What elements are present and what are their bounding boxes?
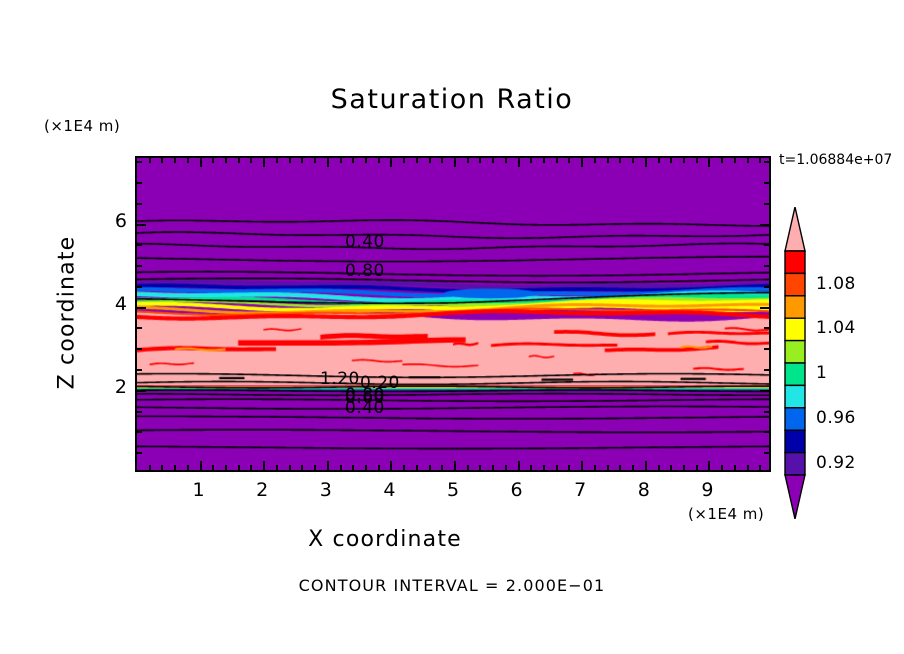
x-tick-minor: [696, 465, 698, 470]
colorbar-band: [785, 408, 805, 430]
x-axis-tick-label: 1: [179, 479, 219, 501]
y-axis-title: Z coordinate: [55, 213, 80, 413]
z-axis-tick-label: 4: [87, 293, 127, 315]
z-tick-minor: [137, 431, 142, 433]
x-axis-tick-label: 6: [497, 479, 537, 501]
z-tick-minor-right: [764, 348, 769, 350]
x-tick-minor-top: [670, 158, 672, 163]
colorbar-tick-label: 1.08: [816, 274, 856, 294]
z-tick-minor-right: [764, 286, 769, 288]
x-tick-minor: [607, 465, 609, 470]
colorbar-band: [785, 318, 805, 340]
colorbar-band: [785, 341, 805, 363]
contour-value-label: 0.80: [345, 261, 385, 281]
x-tick-minor: [403, 465, 405, 470]
x-tick-minor-top: [352, 158, 354, 163]
x-tick-minor-top: [594, 158, 596, 163]
x-tick-minor: [161, 465, 163, 470]
z-tick-minor-right: [764, 182, 769, 184]
colorbar-band: [785, 363, 805, 385]
colorbar-swatches: [782, 207, 808, 519]
x-tick-minor-top: [759, 158, 761, 163]
x-tick-minor: [276, 465, 278, 470]
contour-plot-area: [135, 156, 771, 472]
contour-field-canvas: [137, 158, 769, 470]
x-tick-major-top: [708, 158, 710, 167]
z-tick-major: [137, 390, 146, 392]
time-stamp-label: t=1.06884e+07: [779, 152, 892, 168]
x-tick-minor: [479, 465, 481, 470]
colorbar-tick-label: 0.92: [816, 453, 856, 473]
x-tick-minor-top: [747, 158, 749, 163]
x-tick-minor: [378, 465, 380, 470]
z-tick-minor-right: [764, 161, 769, 163]
z-tick-minor: [137, 369, 142, 371]
x-tick-minor-top: [340, 158, 342, 163]
x-tick-minor: [619, 465, 621, 470]
x-tick-major: [708, 461, 710, 470]
x-tick-minor: [759, 465, 761, 470]
x-tick-major-top: [390, 158, 392, 167]
x-tick-minor-top: [543, 158, 545, 163]
x-axis-tick-label: 9: [687, 479, 727, 501]
x-tick-minor-top: [429, 158, 431, 163]
x-tick-minor: [238, 465, 240, 470]
x-tick-minor: [289, 465, 291, 470]
z-tick-minor: [137, 182, 142, 184]
x-tick-major-top: [200, 158, 202, 167]
x-tick-minor: [352, 465, 354, 470]
x-tick-minor-top: [683, 158, 685, 163]
x-tick-minor: [314, 465, 316, 470]
z-tick-major-right: [760, 224, 769, 226]
x-tick-minor: [365, 465, 367, 470]
z-tick-major-right: [760, 307, 769, 309]
x-tick-minor: [416, 465, 418, 470]
contour-interval-note: CONTOUR INTERVAL = 2.000E−01: [0, 576, 904, 595]
x-tick-minor: [530, 465, 532, 470]
z-tick-minor: [137, 244, 142, 246]
x-tick-major-top: [454, 158, 456, 167]
colorbar-bottom-cap: [785, 475, 805, 519]
x-axis-tick-label: 2: [242, 479, 282, 501]
x-tick-major-top: [263, 158, 265, 167]
page-title: Saturation Ratio: [0, 84, 904, 115]
x-tick-minor-top: [238, 158, 240, 163]
z-axis-tick-label: 6: [87, 210, 127, 232]
colorbar-band: [785, 296, 805, 318]
x-tick-minor: [187, 465, 189, 470]
x-tick-minor: [212, 465, 214, 470]
x-tick-major: [390, 461, 392, 470]
x-tick-major-top: [581, 158, 583, 167]
x-axis-title: X coordinate: [0, 527, 770, 552]
x-tick-minor-top: [276, 158, 278, 163]
z-tick-minor: [137, 286, 142, 288]
x-tick-minor: [505, 465, 507, 470]
x-tick-minor: [568, 465, 570, 470]
z-tick-minor: [137, 265, 142, 267]
x-tick-major: [200, 461, 202, 470]
colorbar-band: [785, 385, 805, 407]
x-tick-major-top: [518, 158, 520, 167]
x-tick-minor-top: [734, 158, 736, 163]
x-tick-minor: [632, 465, 634, 470]
x-tick-major-top: [327, 158, 329, 167]
x-tick-minor-top: [149, 158, 151, 163]
x-tick-minor-top: [174, 158, 176, 163]
x-tick-minor: [467, 465, 469, 470]
x-tick-minor: [149, 465, 151, 470]
z-tick-major-right: [760, 390, 769, 392]
z-tick-minor-right: [764, 431, 769, 433]
x-axis-tick-label: 8: [624, 479, 664, 501]
x-tick-minor-top: [161, 158, 163, 163]
colorbar-band: [785, 251, 805, 273]
x-tick-minor: [594, 465, 596, 470]
x-tick-minor: [301, 465, 303, 470]
x-tick-minor-top: [301, 158, 303, 163]
z-tick-minor-right: [764, 265, 769, 267]
x-tick-major: [518, 461, 520, 470]
contour-value-label: 0.40: [345, 232, 385, 252]
x-tick-minor-top: [721, 158, 723, 163]
x-tick-major: [581, 461, 583, 470]
x-tick-minor-top: [225, 158, 227, 163]
x-tick-minor: [225, 465, 227, 470]
x-tick-minor-top: [416, 158, 418, 163]
z-tick-minor-right: [764, 369, 769, 371]
z-tick-minor-right: [764, 244, 769, 246]
x-tick-minor: [543, 465, 545, 470]
colorbar-band: [785, 453, 805, 475]
z-axis-unit-label: (×1E4 m): [44, 117, 120, 135]
x-tick-minor-top: [568, 158, 570, 163]
z-tick-minor: [137, 411, 142, 413]
z-tick-minor-right: [764, 452, 769, 454]
x-tick-minor: [556, 465, 558, 470]
x-tick-minor-top: [289, 158, 291, 163]
x-tick-minor: [658, 465, 660, 470]
z-tick-minor-right: [764, 203, 769, 205]
colorbar-tick-label: 0.96: [816, 408, 856, 428]
x-axis-unit-label: (×1E4 m): [688, 505, 764, 523]
x-tick-minor-top: [505, 158, 507, 163]
x-tick-minor: [670, 465, 672, 470]
x-tick-minor: [734, 465, 736, 470]
z-tick-minor: [137, 452, 142, 454]
z-tick-minor-right: [764, 327, 769, 329]
x-tick-major: [263, 461, 265, 470]
x-tick-minor-top: [403, 158, 405, 163]
x-tick-minor-top: [212, 158, 214, 163]
x-tick-minor: [747, 465, 749, 470]
x-tick-minor-top: [607, 158, 609, 163]
x-tick-major: [327, 461, 329, 470]
x-tick-minor-top: [187, 158, 189, 163]
colorbar-band: [785, 273, 805, 295]
x-tick-minor-top: [365, 158, 367, 163]
x-tick-minor-top: [467, 158, 469, 163]
x-tick-minor: [340, 465, 342, 470]
x-tick-minor-top: [632, 158, 634, 163]
z-tick-minor: [137, 327, 142, 329]
x-tick-minor: [441, 465, 443, 470]
x-axis-tick-label: 5: [433, 479, 473, 501]
x-tick-major-top: [645, 158, 647, 167]
x-tick-minor-top: [314, 158, 316, 163]
x-tick-minor-top: [492, 158, 494, 163]
x-tick-minor-top: [250, 158, 252, 163]
x-tick-minor-top: [441, 158, 443, 163]
z-tick-minor: [137, 161, 142, 163]
colorbar-tick-label: 1.04: [816, 318, 856, 338]
z-tick-minor: [137, 348, 142, 350]
x-axis-tick-label: 3: [306, 479, 346, 501]
x-tick-minor-top: [556, 158, 558, 163]
x-axis-tick-label: 4: [369, 479, 409, 501]
colorbar: [782, 207, 808, 519]
z-axis-tick-label: 2: [87, 376, 127, 398]
x-tick-minor-top: [696, 158, 698, 163]
z-tick-minor: [137, 203, 142, 205]
x-axis-tick-label: 7: [560, 479, 600, 501]
z-tick-major: [137, 307, 146, 309]
x-tick-major: [645, 461, 647, 470]
x-tick-minor-top: [619, 158, 621, 163]
colorbar-tick-label: 1: [816, 363, 827, 383]
x-tick-minor: [683, 465, 685, 470]
x-tick-major: [454, 461, 456, 470]
x-tick-minor: [429, 465, 431, 470]
x-tick-minor-top: [530, 158, 532, 163]
colorbar-top-cap: [785, 207, 805, 251]
colorbar-band: [785, 430, 805, 452]
x-tick-minor: [174, 465, 176, 470]
contour-value-label: 0.40: [345, 398, 385, 418]
x-tick-minor-top: [479, 158, 481, 163]
z-tick-major: [137, 224, 146, 226]
x-tick-minor: [492, 465, 494, 470]
x-tick-minor-top: [378, 158, 380, 163]
x-tick-minor: [721, 465, 723, 470]
x-tick-minor-top: [658, 158, 660, 163]
x-tick-minor: [250, 465, 252, 470]
z-tick-minor-right: [764, 411, 769, 413]
